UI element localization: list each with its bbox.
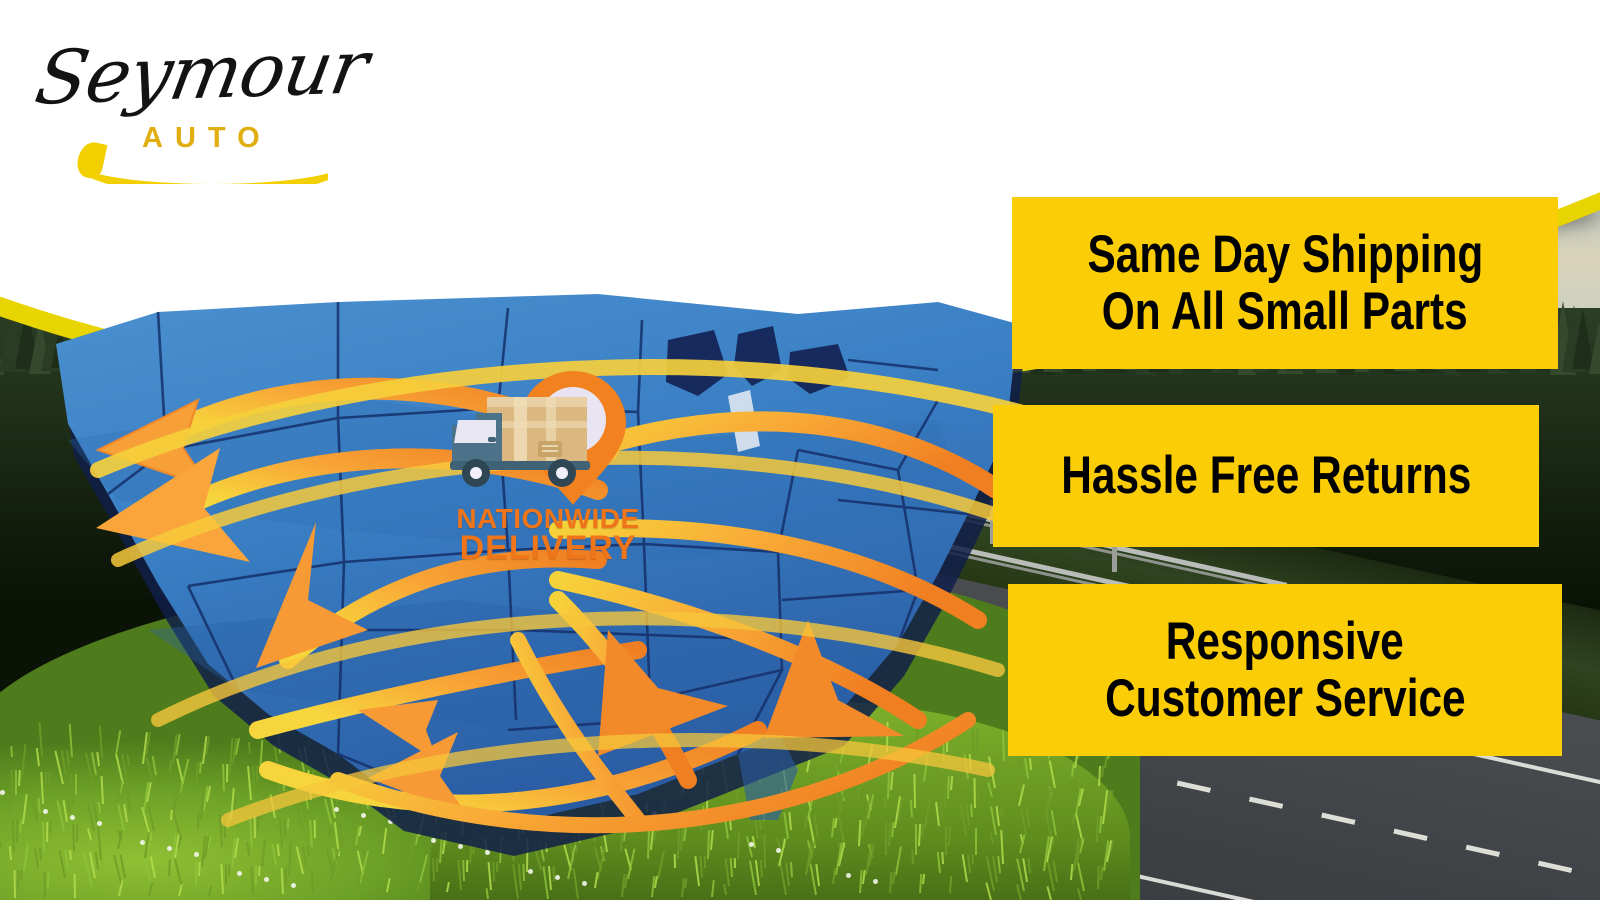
grass-flower [555, 875, 560, 880]
claim-line: Responsive [1166, 613, 1404, 670]
grass-flower [528, 869, 533, 874]
grass-blade [16, 820, 18, 842]
claim-line: Hassle Free Returns [1061, 447, 1471, 504]
grass-flower [264, 877, 269, 882]
logo-swoosh [82, 150, 328, 184]
claim-line: Customer Service [1105, 670, 1466, 727]
claim-line: On All Small Parts [1102, 283, 1468, 340]
grass-flower [237, 871, 242, 876]
grass-flower [0, 790, 5, 795]
grass-blade [15, 770, 17, 795]
grass-blade [436, 858, 438, 872]
delivery-line: DELIVERY [460, 529, 637, 567]
grass-flower [582, 881, 587, 886]
grass-blade [195, 862, 197, 885]
grass-blade [44, 872, 46, 898]
grass-blade [255, 866, 257, 885]
grass-flower [291, 883, 296, 888]
grass-blade [225, 864, 227, 885]
grass-blade [74, 874, 76, 898]
claim-line: Same Day Shipping [1087, 226, 1483, 283]
logo-wordmark: Seymour [29, 24, 374, 121]
claim-box-hassle-free-returns[interactable]: Hassle Free Returns [993, 405, 1539, 547]
claim-box-same-day-shipping[interactable]: Same Day Shipping On All Small Parts [1012, 197, 1558, 369]
brand-logo[interactable]: Seymour AUTO [34, 22, 334, 172]
grass-blade [496, 862, 498, 872]
nationwide-delivery-label: NATIONWIDE DELIVERY [418, 505, 678, 566]
grass-flower [873, 879, 878, 884]
pine-tree [1589, 321, 1600, 374]
grass-flower [846, 873, 851, 878]
claim-box-responsive-customer-service[interactable]: Responsive Customer Service [1008, 584, 1562, 756]
promo-banner: Seymour AUTO [0, 0, 1600, 900]
grass-blade [285, 868, 287, 885]
grass-blade [466, 860, 468, 872]
